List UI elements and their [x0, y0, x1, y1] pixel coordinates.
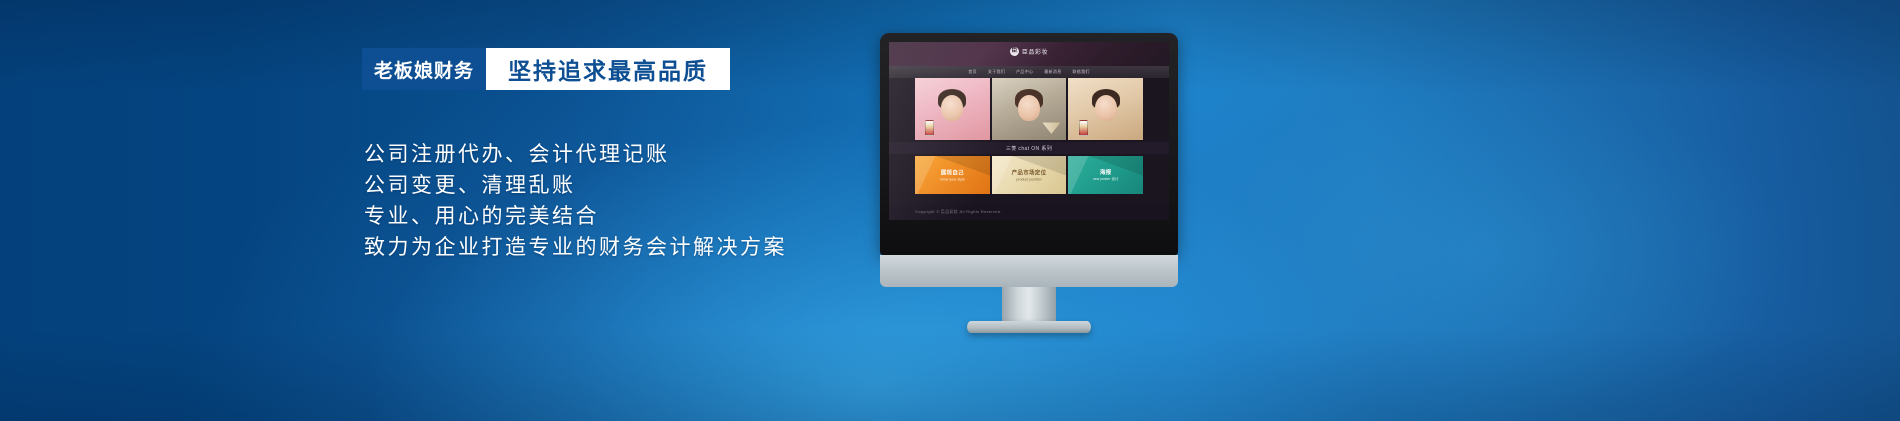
site-promo-panel-1: 展现自己 show your style [915, 156, 990, 194]
site-photo-strip [889, 78, 1169, 140]
phone-prop [925, 120, 934, 136]
panel-title: 产品市场定位 [1012, 169, 1047, 177]
headline-text: 坚持追求最高品质 [486, 48, 730, 90]
panel-title: 海报 [1093, 168, 1119, 176]
site-photo-2 [992, 78, 1067, 140]
model-face [1018, 95, 1040, 121]
panel-subtitle: product position [1012, 178, 1047, 182]
banner-line-3: 专业、用心的完美结合 [364, 202, 787, 232]
brand-tag: 老板娘财务 [362, 48, 486, 90]
site-photo-3 [1068, 78, 1143, 140]
phone-prop [1079, 120, 1088, 136]
site-footer: Copyright © 臣品彩妆 All Rights Reserved. [889, 204, 1169, 220]
banner-line-2: 公司变更、清理乱账 [364, 171, 787, 201]
panel-title: 展现自己 [940, 169, 965, 177]
panel-label: 海报 new poster 设计 [1093, 168, 1119, 182]
panel-subtitle: show your style [940, 178, 965, 182]
site-footer-text: Copyright © 臣品彩妆 All Rights Reserved. [915, 209, 1002, 215]
site-logo-mark-icon: 臣 [1010, 47, 1019, 56]
panel-subtitle: new poster 设计 [1093, 177, 1119, 182]
site-logo: 臣 臣品彩妆 [1010, 47, 1048, 56]
site-caption-text: 三菱 chat ON 系列 [1006, 145, 1052, 152]
imac-stand-neck [1002, 287, 1056, 323]
panel-label: 产品市场定位 product position [1012, 169, 1047, 182]
imac-stand-base [967, 321, 1091, 333]
site-nav-item-2: 产品中心 [1016, 69, 1033, 75]
site-nav-item-3: 最新消息 [1044, 69, 1061, 75]
banner-line-1: 公司注册代办、会计代理记账 [364, 140, 787, 170]
site-nav-item-1: 关于我们 [988, 69, 1005, 75]
site-photo-1 [915, 78, 990, 140]
site-logo-text: 臣品彩妆 [1022, 47, 1048, 56]
fan-prop [1042, 120, 1060, 134]
banner-text-lines: 公司注册代办、会计代理记账 公司变更、清理乱账 专业、用心的完美结合 致力为企业… [364, 140, 787, 264]
model-face [1095, 95, 1117, 121]
banner-line-4: 致力为企业打造专业的财务会计解决方案 [364, 233, 787, 263]
site-navigation: 首页 关于我们 产品中心 最新消息 联络我们 [889, 66, 1169, 78]
panel-label: 展现自己 show your style [940, 169, 965, 182]
apple-logo-icon [1022, 261, 1037, 279]
site-promo-panels: 展现自己 show your style 产品市场定位 product posi… [915, 156, 1143, 194]
imac-illustration: 臣 臣品彩妆 首页 关于我们 产品中心 最新消息 联络我们 [880, 33, 1178, 305]
imac-body: 臣 臣品彩妆 首页 关于我们 产品中心 最新消息 联络我们 [880, 33, 1178, 255]
headline-badge: 老板娘财务 坚持追求最高品质 [362, 48, 730, 90]
website-mockup: 臣 臣品彩妆 首页 关于我们 产品中心 最新消息 联络我们 [889, 42, 1169, 220]
site-nav-item-0: 首页 [968, 69, 977, 75]
site-hero-banner: 臣 臣品彩妆 [889, 42, 1169, 66]
imac-screen: 臣 臣品彩妆 首页 关于我们 产品中心 最新消息 联络我们 [889, 42, 1169, 220]
site-caption-bar: 三菱 chat ON 系列 [889, 142, 1169, 154]
hero-banner: 老板娘财务 坚持追求最高品质 公司注册代办、会计代理记账 公司变更、清理乱账 专… [0, 0, 1900, 421]
banner-copy: 老板娘财务 坚持追求最高品质 公司注册代办、会计代理记账 公司变更、清理乱账 专… [362, 0, 882, 421]
site-promo-panel-3: 海报 new poster 设计 [1068, 156, 1143, 194]
site-nav-item-4: 联络我们 [1073, 69, 1090, 75]
site-promo-panel-2: 产品市场定位 product position [992, 156, 1067, 194]
model-face [941, 95, 963, 121]
